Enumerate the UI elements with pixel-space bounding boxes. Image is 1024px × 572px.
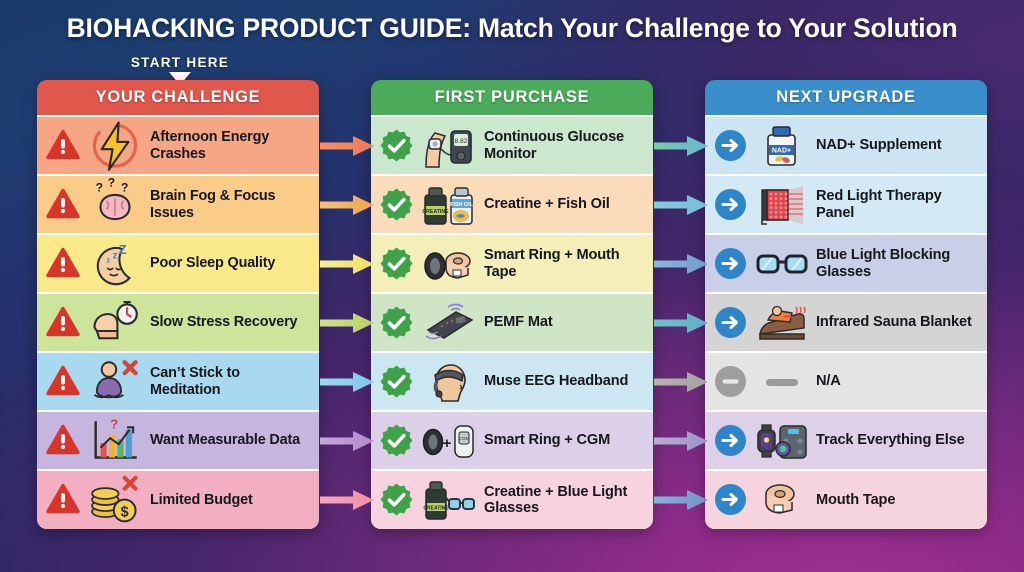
row-label: Red Light Therapy Panel xyxy=(816,188,979,221)
row-label: Want Measurable Data xyxy=(150,432,311,448)
row-label: Mouth Tape xyxy=(816,492,979,508)
table-row[interactable]: 8.82Continuous Glucose Monitor xyxy=(371,117,653,174)
svg-text:+: + xyxy=(443,435,452,452)
svg-text:$: $ xyxy=(121,505,129,521)
rows-next-upgrade: NAD+NAD+ SupplementRed Light Therapy Pan… xyxy=(705,115,987,529)
sleeping-moon-icon: Zzz xyxy=(86,241,144,287)
table-row[interactable]: +CGMSmart Ring + CGM xyxy=(371,412,653,469)
column-first-purchase: FIRST PURCHASE 8.82Continuous Glucose Mo… xyxy=(371,80,653,529)
table-row[interactable]: Red Light Therapy Panel xyxy=(705,176,987,233)
row-label: Afternoon Energy Crashes xyxy=(150,129,311,162)
bar-chart-icon: ? xyxy=(86,418,144,464)
table-row[interactable]: N/A xyxy=(705,353,987,410)
row-label: Muse EEG Headband xyxy=(484,373,645,389)
blue-arrow-circle-icon xyxy=(714,188,748,222)
column-next-upgrade: NEXT UPGRADE NAD+NAD+ SupplementRed Ligh… xyxy=(705,80,987,529)
warning-triangle-icon xyxy=(46,424,80,458)
start-here-label: START HERE xyxy=(115,55,245,70)
lightning-bolt-icon xyxy=(86,123,144,169)
table-row[interactable]: CREATINECreatine + Blue Light Glasses xyxy=(371,471,653,529)
row-label: Can’t Stick to Meditation xyxy=(150,365,311,398)
green-check-seal-icon xyxy=(380,306,414,340)
svg-text:CREATINE: CREATINE xyxy=(423,506,449,512)
cgm-sensor-icon: 8.82 xyxy=(420,123,478,169)
watch-scale-icon xyxy=(754,418,810,464)
connector-challenge-to-first-arrow-6 xyxy=(320,412,374,469)
warning-triangle-icon xyxy=(46,129,80,163)
warning-triangle-icon xyxy=(46,188,80,222)
nad-bottle-icon: NAD+ xyxy=(754,123,810,169)
creatine-glasses-icon: CREATINE xyxy=(420,477,478,523)
warning-triangle-icon xyxy=(46,247,80,281)
table-row[interactable]: NAD+NAD+ Supplement xyxy=(705,117,987,174)
rows-first-purchase: 8.82Continuous Glucose MonitorCREATINEFI… xyxy=(371,115,653,529)
table-row[interactable]: Slow Stress Recovery xyxy=(37,294,319,351)
table-row[interactable]: Blue Light Blocking Glasses xyxy=(705,235,987,292)
table-row[interactable]: Muse EEG Headband xyxy=(371,353,653,410)
table-row[interactable]: Afternoon Energy Crashes xyxy=(37,117,319,174)
coins-icon: $ xyxy=(86,477,144,523)
row-label: Creatine + Fish Oil xyxy=(484,196,645,212)
connector-challenge-to-first-arrow-2 xyxy=(320,176,374,233)
rows-your-challenge: Afternoon Energy Crashes???Brain Fog & F… xyxy=(37,115,319,529)
svg-text:NAD+: NAD+ xyxy=(772,147,791,154)
blue-arrow-circle-icon xyxy=(714,306,748,340)
blue-arrow-circle-icon xyxy=(714,247,748,281)
table-row[interactable]: Mouth Tape xyxy=(705,471,987,529)
column-your-challenge: YOUR CHALLENGE Afternoon Energy Crashes?… xyxy=(37,80,319,529)
green-check-seal-icon xyxy=(380,365,414,399)
row-label: Track Everything Else xyxy=(816,432,979,448)
table-row[interactable]: ?Want Measurable Data xyxy=(37,412,319,469)
connector-first-to-next-arrow-6 xyxy=(654,412,708,469)
connector-first-to-next-arrow-2 xyxy=(654,176,708,233)
connector-first-to-next-arrow-4 xyxy=(654,294,708,351)
blue-light-glasses-icon xyxy=(754,241,810,287)
column-header-next-upgrade: NEXT UPGRADE xyxy=(705,80,987,115)
green-check-seal-icon xyxy=(380,129,414,163)
row-label: Smart Ring + Mouth Tape xyxy=(484,247,645,280)
ring-plus-cgm-icon: +CGM xyxy=(420,418,478,464)
green-check-seal-icon xyxy=(380,424,414,458)
red-light-panel-icon xyxy=(754,182,810,228)
brain-icon: ??? xyxy=(86,182,144,228)
table-row[interactable]: ???Brain Fog & Focus Issues xyxy=(37,176,319,233)
warning-triangle-icon xyxy=(46,365,80,399)
connector-challenge-to-first-arrow-5 xyxy=(320,353,374,410)
row-label: Creatine + Blue Light Glasses xyxy=(484,484,645,517)
column-header-your-challenge: YOUR CHALLENGE xyxy=(37,80,319,115)
svg-text:8.82: 8.82 xyxy=(455,138,468,145)
warning-triangle-icon xyxy=(46,483,80,517)
green-check-seal-icon xyxy=(380,247,414,281)
svg-text:?: ? xyxy=(108,178,115,189)
sauna-blanket-icon xyxy=(754,300,810,346)
flexed-arm-timer-icon xyxy=(86,300,144,346)
pemf-mat-icon xyxy=(420,300,478,346)
warning-triangle-icon xyxy=(46,306,80,340)
blue-arrow-circle-icon xyxy=(714,424,748,458)
column-header-first-purchase: FIRST PURCHASE xyxy=(371,80,653,115)
row-label: Infrared Sauna Blanket xyxy=(816,314,979,330)
row-label: Smart Ring + CGM xyxy=(484,432,645,448)
row-label: Slow Stress Recovery xyxy=(150,314,311,330)
row-label: N/A xyxy=(816,373,979,389)
svg-text:z: z xyxy=(113,251,118,262)
svg-text:CGM: CGM xyxy=(459,436,470,441)
table-row[interactable]: Smart Ring + Mouth Tape xyxy=(371,235,653,292)
svg-text:z: z xyxy=(107,255,111,264)
svg-text:?: ? xyxy=(110,416,118,431)
dash-icon xyxy=(754,359,810,405)
row-label: Continuous Glucose Monitor xyxy=(484,129,645,162)
svg-text:?: ? xyxy=(96,180,103,194)
connector-challenge-to-first-arrow-7 xyxy=(320,471,374,528)
row-label: Brain Fog & Focus Issues xyxy=(150,188,311,221)
row-label: Poor Sleep Quality xyxy=(150,255,311,271)
gray-minus-circle-icon xyxy=(714,365,748,399)
ring-and-tape-icon xyxy=(420,241,478,287)
connector-challenge-to-first-arrow-1 xyxy=(320,117,374,174)
table-row[interactable]: Infrared Sauna Blanket xyxy=(705,294,987,351)
table-row[interactable]: PEMF Mat xyxy=(371,294,653,351)
connector-first-to-next-arrow-7 xyxy=(654,471,708,528)
row-label: NAD+ Supplement xyxy=(816,137,979,153)
mouth-tape-icon xyxy=(754,477,810,523)
page-title: BIOHACKING PRODUCT GUIDE: Match Your Cha… xyxy=(0,13,1024,44)
table-row[interactable]: Track Everything Else xyxy=(705,412,987,469)
connector-challenge-to-first-arrow-3 xyxy=(320,235,374,292)
supplement-bottles-icon: CREATINEFISH OIL xyxy=(420,182,478,228)
connector-first-to-next-arrow-3 xyxy=(654,235,708,292)
connector-first-to-next-arrow-5 xyxy=(654,353,708,410)
table-row[interactable]: Can’t Stick to Meditation xyxy=(37,353,319,410)
green-check-seal-icon xyxy=(380,188,414,222)
green-check-seal-icon xyxy=(380,483,414,517)
blue-arrow-circle-icon xyxy=(714,483,748,517)
table-row[interactable]: $Limited Budget xyxy=(37,471,319,529)
table-row[interactable]: ZzzPoor Sleep Quality xyxy=(37,235,319,292)
svg-text:?: ? xyxy=(121,180,128,194)
connector-first-to-next-arrow-1 xyxy=(654,117,708,174)
row-label: Limited Budget xyxy=(150,492,311,508)
svg-text:Z: Z xyxy=(119,242,127,257)
meditation-person-icon xyxy=(86,359,144,405)
svg-text:CREATINE: CREATINE xyxy=(422,209,449,215)
svg-text:FISH OIL: FISH OIL xyxy=(450,202,473,208)
infographic-canvas: BIOHACKING PRODUCT GUIDE: Match Your Cha… xyxy=(0,0,1024,572)
table-row[interactable]: CREATINEFISH OILCreatine + Fish Oil xyxy=(371,176,653,233)
row-label: Blue Light Blocking Glasses xyxy=(816,247,979,280)
eeg-headband-icon xyxy=(420,359,478,405)
row-label: PEMF Mat xyxy=(484,314,645,330)
blue-arrow-circle-icon xyxy=(714,129,748,163)
connector-challenge-to-first-arrow-4 xyxy=(320,294,374,351)
